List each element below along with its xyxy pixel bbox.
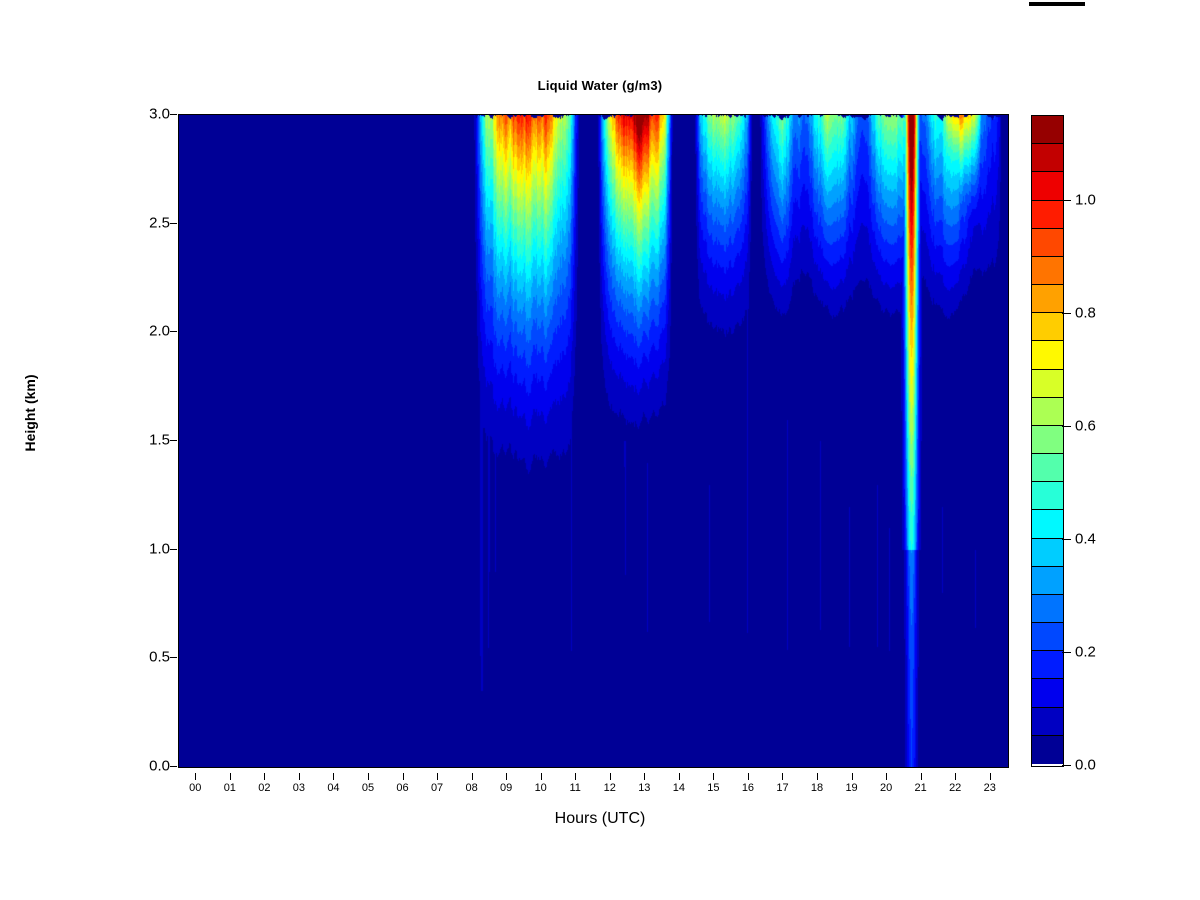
x-tick-label: 06 bbox=[396, 782, 408, 794]
x-tick-mark bbox=[575, 773, 576, 780]
x-tick-label: 11 bbox=[570, 782, 581, 794]
colorbar-band bbox=[1032, 116, 1063, 144]
colorbar-tick-label: 0.4 bbox=[1075, 530, 1096, 547]
x-tick-mark bbox=[472, 773, 473, 780]
colorbar-tick-mark bbox=[1062, 313, 1071, 314]
colorbar-band bbox=[1032, 257, 1063, 285]
colorbar-band bbox=[1032, 313, 1063, 341]
y-tick-label: 1.5 bbox=[149, 432, 170, 449]
x-tick-mark bbox=[506, 773, 507, 780]
colorbar-band bbox=[1032, 398, 1063, 426]
x-tick-label: 03 bbox=[293, 782, 305, 794]
colorbar-tick-label: 0.6 bbox=[1075, 417, 1096, 434]
x-tick-label: 16 bbox=[742, 782, 754, 794]
chart-title: Liquid Water (g/m3) bbox=[0, 78, 1200, 93]
y-tick-label: 2.5 bbox=[149, 214, 170, 231]
colorbar-tick-mark bbox=[1062, 426, 1071, 427]
colorbar-band bbox=[1032, 679, 1063, 707]
colorbar-band bbox=[1032, 172, 1063, 200]
colorbar-tick-mark bbox=[1062, 200, 1071, 201]
x-tick-mark bbox=[230, 773, 231, 780]
y-tick-label: 3.0 bbox=[149, 106, 170, 123]
x-tick-label: 17 bbox=[776, 782, 788, 794]
y-tick-mark bbox=[170, 657, 177, 658]
x-tick-mark bbox=[713, 773, 714, 780]
x-tick-label: 00 bbox=[189, 782, 201, 794]
colorbar-band bbox=[1032, 285, 1063, 313]
colorbar-band bbox=[1032, 229, 1063, 257]
x-tick-label: 07 bbox=[431, 782, 443, 794]
colorbar-band bbox=[1032, 651, 1063, 679]
colorbar-band bbox=[1032, 623, 1063, 651]
colorbar-tick-label: 0.2 bbox=[1075, 643, 1096, 660]
colorbar-band bbox=[1032, 426, 1063, 454]
colorbar-tick-label: 0.8 bbox=[1075, 304, 1096, 321]
heatmap-canvas bbox=[179, 115, 1008, 767]
x-tick-label: 15 bbox=[707, 782, 719, 794]
x-tick-label: 01 bbox=[224, 782, 236, 794]
colorbar-band bbox=[1032, 454, 1063, 482]
colorbar-band bbox=[1032, 144, 1063, 172]
colorbar-band bbox=[1032, 708, 1063, 736]
x-tick-mark bbox=[852, 773, 853, 780]
colorbar-tick-mark bbox=[1062, 765, 1071, 766]
x-tick-mark bbox=[748, 773, 749, 780]
x-tick-label: 20 bbox=[880, 782, 892, 794]
x-tick-mark bbox=[437, 773, 438, 780]
x-tick-label: 21 bbox=[915, 782, 927, 794]
y-axis-title: Height (km) bbox=[22, 343, 38, 483]
x-tick-mark bbox=[403, 773, 404, 780]
x-axis-tick-labels: 0001020304050607080910111213141516171819… bbox=[178, 773, 1007, 797]
colorbar-tick-label: 0.0 bbox=[1075, 757, 1096, 774]
x-tick-mark bbox=[782, 773, 783, 780]
x-tick-label: 18 bbox=[811, 782, 823, 794]
x-tick-label: 23 bbox=[984, 782, 996, 794]
y-tick-mark bbox=[170, 223, 177, 224]
colorbar-band bbox=[1032, 595, 1063, 623]
heatmap-plot-area bbox=[178, 114, 1009, 768]
x-tick-mark bbox=[264, 773, 265, 780]
y-tick-mark bbox=[170, 766, 177, 767]
x-tick-label: 09 bbox=[500, 782, 512, 794]
x-tick-mark bbox=[990, 773, 991, 780]
x-tick-label: 22 bbox=[949, 782, 961, 794]
colorbar-band bbox=[1032, 341, 1063, 369]
x-tick-label: 12 bbox=[604, 782, 616, 794]
colorbar-tick-labels: 0.00.20.40.60.81.0 bbox=[1062, 100, 1182, 790]
colorbar-band bbox=[1032, 510, 1063, 538]
y-tick-mark bbox=[170, 549, 177, 550]
y-tick-label: 0.5 bbox=[149, 649, 170, 666]
y-axis-tick-labels: 0.00.51.01.52.02.53.0 bbox=[100, 114, 170, 766]
y-tick-mark bbox=[170, 440, 177, 441]
x-tick-label: 19 bbox=[845, 782, 857, 794]
colorbar-band bbox=[1032, 736, 1063, 764]
x-tick-mark bbox=[817, 773, 818, 780]
y-tick-label: 2.0 bbox=[149, 323, 170, 340]
y-tick-mark bbox=[170, 331, 177, 332]
x-tick-label: 13 bbox=[638, 782, 650, 794]
colorbar-band bbox=[1032, 567, 1063, 595]
x-tick-mark bbox=[955, 773, 956, 780]
x-tick-mark bbox=[333, 773, 334, 780]
colorbar bbox=[1031, 115, 1064, 767]
colorbar-tick-mark bbox=[1062, 652, 1071, 653]
y-tick-label: 1.0 bbox=[149, 540, 170, 557]
x-tick-mark bbox=[886, 773, 887, 780]
top-edge-artifact bbox=[1029, 2, 1085, 6]
colorbar-tick-mark bbox=[1062, 539, 1071, 540]
x-tick-label: 14 bbox=[673, 782, 685, 794]
x-axis-title: Hours (UTC) bbox=[0, 810, 1200, 828]
x-tick-label: 10 bbox=[535, 782, 547, 794]
colorbar-band bbox=[1032, 201, 1063, 229]
x-tick-mark bbox=[195, 773, 196, 780]
x-tick-label: 04 bbox=[327, 782, 339, 794]
x-tick-label: 02 bbox=[258, 782, 270, 794]
y-tick-label: 0.0 bbox=[149, 758, 170, 775]
x-tick-mark bbox=[541, 773, 542, 780]
x-tick-label: 08 bbox=[465, 782, 477, 794]
x-tick-mark bbox=[610, 773, 611, 780]
x-tick-mark bbox=[921, 773, 922, 780]
x-tick-mark bbox=[368, 773, 369, 780]
x-tick-mark bbox=[679, 773, 680, 780]
y-tick-mark bbox=[170, 114, 177, 115]
colorbar-band bbox=[1032, 370, 1063, 398]
x-tick-mark bbox=[644, 773, 645, 780]
colorbar-tick-label: 1.0 bbox=[1075, 191, 1096, 208]
colorbar-band bbox=[1032, 539, 1063, 567]
x-tick-label: 05 bbox=[362, 782, 374, 794]
figure-root: Liquid Water (g/m3) 0.00.51.01.52.02.53.… bbox=[0, 0, 1200, 900]
colorbar-band bbox=[1032, 482, 1063, 510]
x-tick-mark bbox=[299, 773, 300, 780]
